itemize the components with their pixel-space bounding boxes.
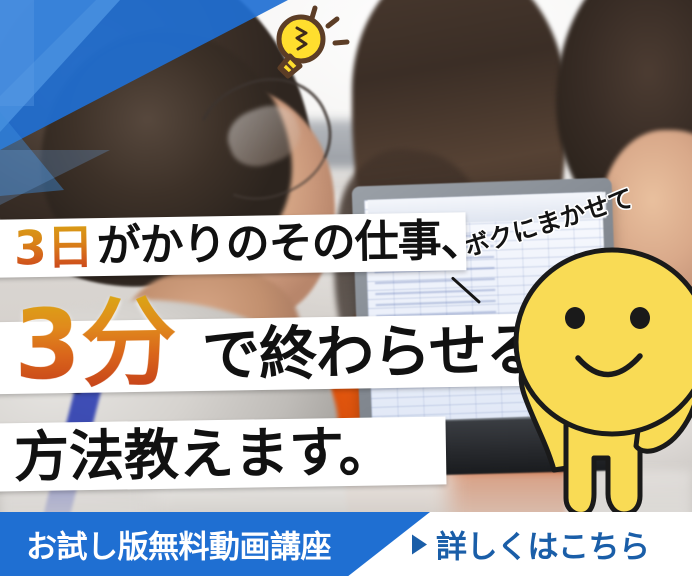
mascot-eye-right	[630, 307, 650, 329]
details-cta-label: 詳しくはこちら	[436, 522, 650, 567]
headline-accent-3minutes: 3分	[13, 295, 177, 394]
headline-line3-text: 方法教えます。	[14, 424, 394, 485]
free-trial-label: お試し版無料動画講座	[26, 522, 331, 567]
promo-banner: ボクにまかせて 3日 がかりのその仕事、 で終わらせる	[0, 0, 692, 576]
play-triangle-icon	[412, 534, 427, 554]
yellow-mascot-icon	[488, 230, 692, 520]
bottom-cta-bar[interactable]: お試し版無料動画講座 詳しくはこちら	[0, 512, 692, 576]
headline-band-line3: 方法教えます。	[0, 416, 447, 491]
headline-line1-text: がかりのその仕事、	[96, 219, 484, 269]
mascot-eye-left	[565, 307, 585, 329]
details-cta-link[interactable]: 詳しくはこちら	[412, 522, 650, 567]
light-bulb-icon	[256, 4, 356, 90]
headline-band-line1: 3日 がかりのその仕事、	[0, 212, 466, 277]
headline-accent-3days: 3日	[14, 224, 97, 272]
